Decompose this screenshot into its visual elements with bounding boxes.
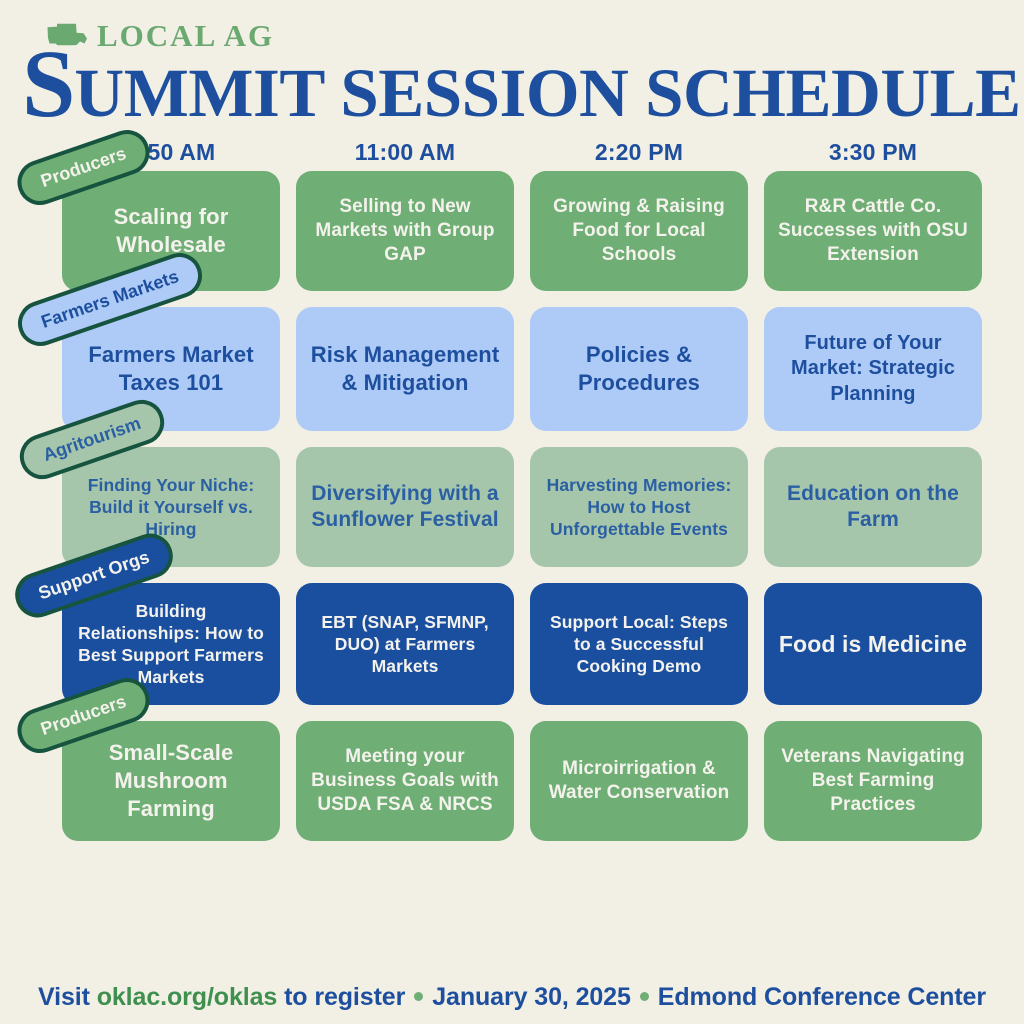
session-schedule-poster: LOCAL AG SUMMIT SESSION SCHEDULE 9:50 AM…	[0, 0, 1024, 1024]
registration-url[interactable]: oklac.org/oklas	[97, 983, 278, 1011]
title-small: UMMIT	[74, 55, 323, 131]
schedule-row-agritourism: Agritourism Finding Your Niche: Build it…	[62, 447, 984, 567]
session-card[interactable]: Food is Medicine	[764, 583, 982, 705]
footer-visit-prefix: Visit	[38, 983, 97, 1011]
title-rest: SESSION SCHEDULE	[324, 55, 1021, 131]
page-title: SUMMIT SESSION SCHEDULE	[22, 36, 1021, 132]
poster-header: LOCAL AG SUMMIT SESSION SCHEDULE	[0, 0, 1024, 130]
time-header-2: 11:00 AM	[296, 139, 514, 166]
session-card[interactable]: Selling to New Markets with Group GAP	[296, 171, 514, 291]
session-card[interactable]: EBT (SNAP, SFMNP, DUO) at Farmers Market…	[296, 583, 514, 705]
session-card[interactable]: Support Local: Steps to a Successful Coo…	[530, 583, 748, 705]
schedule-row-farmers-markets: Farmers Markets Farmers Market Taxes 101…	[62, 307, 984, 431]
footer-visit-suffix: to register	[277, 983, 405, 1011]
event-date: January 30, 2025	[432, 983, 631, 1011]
session-card[interactable]: Diversifying with a Sunflower Festival	[296, 447, 514, 567]
schedule-row-support-orgs: Support Orgs Building Relationships: How…	[62, 583, 984, 705]
session-card[interactable]: Small-Scale Mushroom Farming	[62, 721, 280, 841]
separator-dot-icon	[414, 992, 423, 1001]
schedule-row-producers-2: Producers Small-Scale Mushroom Farming M…	[62, 721, 984, 841]
time-header-4: 3:30 PM	[764, 139, 982, 166]
session-card[interactable]: Microirrigation & Water Conservation	[530, 721, 748, 841]
session-card[interactable]: Harvesting Memories: How to Host Unforge…	[530, 447, 748, 567]
separator-dot-icon	[640, 992, 649, 1001]
title-dropcap: S	[22, 30, 74, 137]
session-card[interactable]: Risk Management & Mitigation	[296, 307, 514, 431]
session-card[interactable]: Veterans Navigating Best Farming Practic…	[764, 721, 982, 841]
session-card[interactable]: R&R Cattle Co. Successes with OSU Extens…	[764, 171, 982, 291]
time-header-row: 9:50 AM 11:00 AM 2:20 PM 3:30 PM	[62, 139, 984, 166]
time-header-3: 2:20 PM	[530, 139, 748, 166]
session-card[interactable]: Meeting your Business Goals with USDA FS…	[296, 721, 514, 841]
session-card[interactable]: Policies & Procedures	[530, 307, 748, 431]
schedule-grid: Producers Scaling for Wholesale Selling …	[62, 171, 984, 857]
session-card[interactable]: Growing & Raising Food for Local Schools	[530, 171, 748, 291]
event-venue: Edmond Conference Center	[658, 983, 986, 1011]
session-card[interactable]: Education on the Farm	[764, 447, 982, 567]
session-card[interactable]: Future of Your Market: Strategic Plannin…	[764, 307, 982, 431]
footer-info: Visit oklac.org/oklas to registerJanuary…	[0, 983, 1024, 1012]
